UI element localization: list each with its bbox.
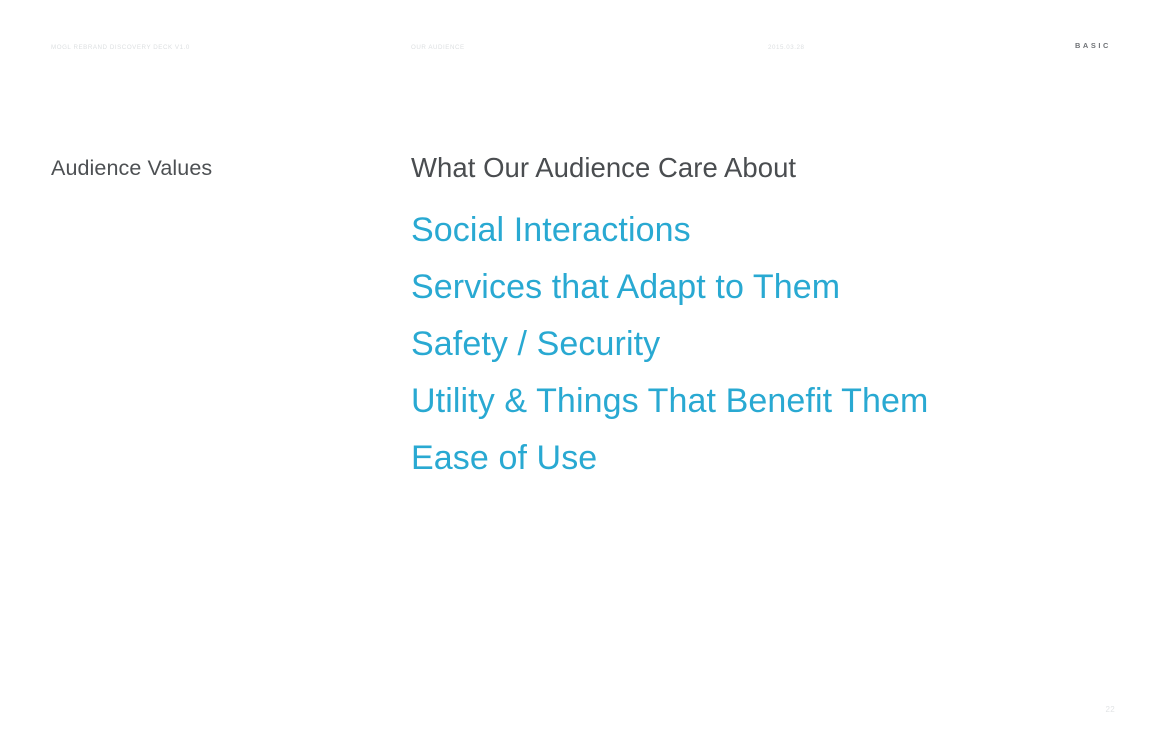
basic-logo: BASIC	[1075, 40, 1111, 52]
presentation-slide: MOGL REBRAND DISCOVERY DECK V1.0 OUR AUD…	[0, 0, 1164, 754]
audience-values-list: Social Interactions Services that Adapt …	[411, 202, 1111, 487]
list-item: Utility & Things That Benefit Them	[411, 373, 1111, 430]
section-label: Audience Values	[51, 153, 212, 183]
content-title: What Our Audience Care About	[411, 148, 1111, 188]
list-item: Services that Adapt to Them	[411, 259, 1111, 316]
list-item: Ease of Use	[411, 430, 1111, 487]
runhead-date: 2015.03.28	[768, 43, 804, 53]
content-column: What Our Audience Care About Social Inte…	[411, 148, 1111, 487]
slide-running-head: MOGL REBRAND DISCOVERY DECK V1.0 OUR AUD…	[0, 40, 1164, 54]
page-number: 22	[1106, 704, 1116, 716]
runhead-deck-title: MOGL REBRAND DISCOVERY DECK V1.0	[51, 43, 190, 53]
list-item: Safety / Security	[411, 316, 1111, 373]
runhead-section-name: OUR AUDIENCE	[411, 43, 465, 53]
list-item: Social Interactions	[411, 202, 1111, 259]
